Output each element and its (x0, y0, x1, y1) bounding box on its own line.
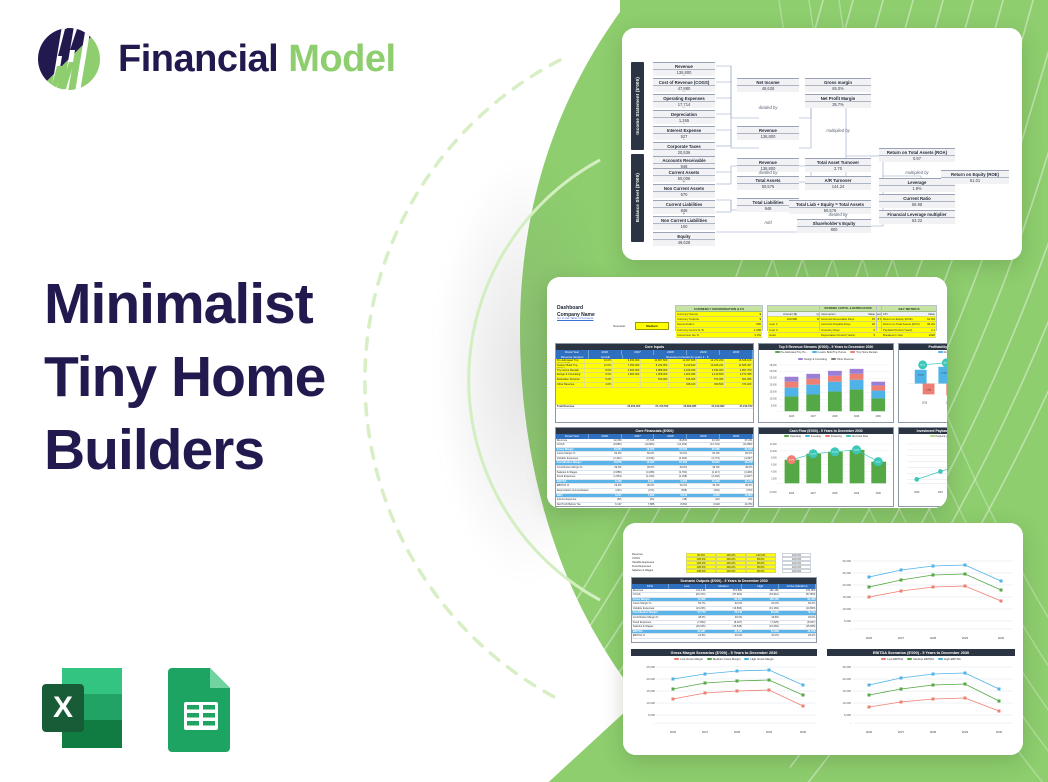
core-financials-rows: Revenue22,20027,41630,83334,31037,241COG… (556, 439, 753, 508)
svg-text:10,000: 10,000 (770, 451, 778, 453)
op-multiplied-by-1: multiplied by (805, 128, 871, 133)
svg-text:2029: 2029 (854, 492, 860, 495)
node-revenue-mid: Revenue136,800 (737, 126, 799, 140)
svg-text:5,000: 5,000 (771, 404, 778, 407)
svg-text:2028: 2028 (930, 636, 937, 640)
svg-text:2028: 2028 (832, 415, 838, 418)
poster-canvas: Financial Model Minimalist Tiny Home Bui… (0, 0, 1048, 782)
table-core-financials: Core Financials ($'000) Fiscal Year 2026… (555, 427, 754, 507)
node-total-assets: Total Assets50,576 (737, 176, 799, 190)
chart-cash-flow: Cash Flow ($'000) - 5 Years to December … (758, 427, 894, 507)
brand-word-model: Model (288, 38, 395, 80)
brand-word-financial: Financial (118, 38, 278, 80)
svg-text:2029: 2029 (962, 636, 969, 640)
profitability-plot: 29.0% 30.0% 30.0% 30.0% 29.0% 22,200 27,… (899, 354, 947, 413)
node-equity: Equity49,628 (653, 232, 715, 246)
table-scenario-outputs: Scenario Outputs ($'000) - 5 Years to De… (631, 577, 817, 643)
dupont-diagram: Income Statement ($'000) Balance Sheet (… (631, 60, 1014, 244)
node-roe: Return on Equity (ROE)61.01 (941, 170, 1009, 184)
svg-text:15,000: 15,000 (842, 595, 851, 599)
node-gross-margin: Gross margin65.0% (805, 78, 871, 92)
svg-text:2030: 2030 (876, 415, 882, 418)
svg-text:2026: 2026 (922, 401, 928, 404)
panel-key-metrics: KEY METRICS KPIValue Return on Equity (R… (881, 305, 937, 331)
svg-text:12,000: 12,000 (770, 444, 778, 446)
chart-investment-payback: Investment Payback Chart ($'000) - 5 Yea… (898, 427, 947, 507)
cash-flow-plot: 12,00010,0008,000 6,0004,0002,000 -(5,00… (759, 438, 893, 499)
svg-text:2,000: 2,000 (771, 478, 777, 480)
chart-revenue-streams: Top 5 Revenue Streams ($'000) - 5 Years … (758, 343, 894, 423)
svg-text:2029: 2029 (854, 415, 860, 418)
svg-text:5,000: 5,000 (648, 713, 655, 717)
screenshot-card-dashboard[interactable]: Dashboard Company Name Go to the Table o… (547, 277, 947, 508)
svg-text:2027: 2027 (702, 730, 709, 734)
svg-text:-: - (850, 627, 851, 631)
svg-text:20,000: 20,000 (842, 583, 851, 587)
brand-logo[interactable]: Financial Model (36, 26, 396, 92)
svg-text:4,000: 4,000 (771, 471, 777, 473)
scenario-body: Revenue80.0%100.0%120.0%100.0% COGS105.0… (631, 553, 1015, 743)
svg-text:5,000: 5,000 (844, 713, 851, 717)
legend-revenue-streams: Pre-fabricated Tiny Ho... Custom Build T… (759, 350, 893, 361)
table-row: Salaries & Wages105.0%100.0%95.0%100.0% (631, 569, 811, 573)
svg-text:35,000: 35,000 (770, 364, 778, 367)
svg-text:25,000: 25,000 (842, 665, 851, 669)
svg-text:2029: 2029 (962, 730, 969, 734)
svg-text:2030: 2030 (998, 636, 1005, 640)
svg-text:2026: 2026 (670, 730, 677, 734)
op-divided-by-1: divided by (737, 105, 799, 110)
svg-text:15,000: 15,000 (842, 689, 851, 693)
svg-text:2029: 2029 (766, 730, 773, 734)
node-net-income: Net Income48,628 (737, 78, 799, 92)
svg-text:25,000: 25,000 (770, 377, 778, 380)
format-badges: X (36, 662, 244, 754)
page-title: Minimalist Tiny Home Builders (44, 268, 444, 487)
node-corporate-taxes: Corporate Taxes20,536 (653, 142, 715, 156)
svg-text:X: X (53, 691, 73, 724)
svg-text:11,252: 11,252 (832, 452, 838, 454)
headline-line-2: Tiny Home (44, 341, 444, 414)
svg-text:2027: 2027 (898, 730, 905, 734)
svg-text:2026: 2026 (866, 730, 873, 734)
svg-text:30,000: 30,000 (770, 370, 778, 373)
svg-text:2026: 2026 (866, 636, 873, 640)
node-non-current-assets: Non Current Assets570 (653, 184, 715, 198)
dupont-sheet: Income Statement ($'000) Balance Sheet (… (622, 28, 1022, 260)
microsoft-excel-icon[interactable]: X (36, 662, 128, 754)
scenario-outputs-rows: Revenue121,136151,800182,160151,800COGS(… (632, 589, 816, 640)
svg-text:2028: 2028 (832, 492, 838, 495)
svg-text:2026: 2026 (914, 491, 920, 494)
svg-text:-: - (850, 721, 851, 725)
svg-text:2027: 2027 (938, 491, 944, 494)
left-content: Financial Model Minimalist Tiny Home Bui… (0, 0, 470, 782)
ebitda-plot: 25,000 20,000 15,000 10,000 5,000 - (827, 661, 1015, 737)
svg-text:(5,000): (5,000) (770, 492, 777, 494)
svg-text:15,000: 15,000 (770, 391, 778, 394)
svg-text:-: - (654, 721, 655, 725)
chart-gross-margin-scenarios: Gross Margin Scenarios ($'000) - 5 Years… (631, 649, 817, 741)
panel-wc-rows: Accounts Receivable Days15 Accounts Paya… (820, 317, 876, 338)
op-divided-by-2: divided by (737, 170, 799, 175)
headline-line-1: Minimalist (44, 268, 444, 341)
financial-model-logo-icon (36, 26, 102, 92)
svg-text:20,000: 20,000 (646, 677, 655, 681)
svg-text:30.0%: 30.0% (944, 363, 948, 365)
node-net-profit-margin: Net Profit Margin35.7% (805, 94, 871, 108)
node-total-asset-turnover: Total Asset Turnover2.70 (805, 158, 871, 172)
svg-text:30,000: 30,000 (842, 559, 851, 563)
svg-text:2027: 2027 (946, 401, 947, 404)
chart-profitability: Profitability ($'000) - 5 Years to Decem… (898, 343, 947, 423)
svg-text:20,000: 20,000 (842, 677, 851, 681)
svg-text:5,000: 5,000 (844, 619, 851, 623)
google-sheets-icon[interactable] (152, 662, 244, 754)
svg-text:25,000: 25,000 (646, 665, 655, 669)
scenario-sheet: Revenue80.0%100.0%120.0%100.0% COGS105.0… (623, 523, 1023, 755)
svg-text:2028: 2028 (930, 730, 937, 734)
svg-text:29.0%: 29.0% (920, 365, 926, 367)
svg-text:2030: 2030 (996, 730, 1003, 734)
node-current-ratio: Current Ratio58.98 (879, 194, 955, 208)
chart-ebitda-scenarios: EBITDA Scenarios ($'000) - 5 Years to De… (827, 649, 1015, 741)
svg-text:10,000: 10,000 (842, 607, 851, 611)
op-divided-by-3: divided by (805, 212, 871, 217)
svg-text:8,000: 8,000 (771, 458, 777, 460)
rail-balance-sheet: Balance Sheet ($'000) (631, 154, 644, 242)
svg-text:27,416: 27,416 (941, 373, 947, 375)
gross-margin-plot: 25,000 20,000 15,000 10,000 5,000 - (631, 661, 817, 737)
table-row: Net Profit Before Tax6,1377,8888,8949,91… (556, 503, 753, 507)
table-row: EBITDA %24.5%29.0%30.0%29.0% (632, 634, 816, 639)
svg-text:6,000: 6,000 (771, 465, 777, 467)
panel-working-capital: WORKING CAPITAL & DEPRECIATION Assumptio… (819, 305, 877, 331)
svg-text:2026: 2026 (789, 492, 795, 495)
screenshot-card-dupont[interactable]: Income Statement ($'000) Balance Sheet (… (622, 28, 1022, 260)
svg-text:-: - (776, 483, 777, 485)
brand-wordmark: Financial Model (118, 38, 396, 81)
svg-text:15,000: 15,000 (646, 689, 655, 693)
node-non-current-liabilities: Non Current Liabilities100 (653, 216, 715, 230)
svg-text:10,000: 10,000 (646, 701, 655, 705)
panel-km-rows: Return on Equity (ROE)61.0% Return on To… (882, 317, 936, 338)
table-core-inputs: Core Inputs Fiscal Year 2026 2027 2028 2… (555, 343, 754, 423)
payback-plot: 72,00070,00060,000 50,00040,00030,000 20… (899, 438, 947, 499)
svg-text:8,522: 8,522 (876, 461, 881, 463)
svg-text:10,719: 10,719 (810, 454, 816, 456)
node-ar-turnover: A/R Turnover144.24 (805, 176, 871, 190)
svg-text:11,500: 11,500 (854, 450, 861, 452)
core-inputs-total-row: Total Revenue 22,200,000 27,415,500 30,8… (556, 405, 753, 410)
node-roa: Return on Total Assets (ROA)0.97 (879, 148, 955, 162)
svg-text:2028: 2028 (734, 730, 741, 734)
chart-scenario-top: 30,000 25,000 20,000 15,000 10,000 5,000… (827, 553, 1015, 645)
headline-line-3: Builders (44, 414, 444, 487)
svg-text:2027: 2027 (811, 415, 817, 418)
svg-text:2027: 2027 (811, 492, 817, 495)
svg-text:2030: 2030 (876, 492, 882, 495)
svg-text:25,000: 25,000 (842, 571, 851, 575)
svg-text:10,000: 10,000 (842, 701, 851, 705)
rail-income-statement: Income Statement ($'000) (631, 62, 644, 150)
svg-text:2026: 2026 (789, 415, 795, 418)
svg-text:2030: 2030 (800, 730, 807, 734)
node-shareholders-equity: Shareholder's Equity800 (797, 219, 871, 233)
svg-text:22,200: 22,200 (918, 375, 925, 377)
scenario-top-plot: 30,000 25,000 20,000 15,000 10,000 5,000… (827, 553, 1015, 645)
revenue-streams-plot: -5,00010,000 15,00020,00025,000 30,00035… (759, 361, 893, 420)
table-scenario-assumptions: Revenue80.0%100.0%120.0%100.0% COGS105.0… (631, 553, 811, 573)
svg-text:2027: 2027 (898, 636, 905, 640)
screenshot-card-scenarios[interactable]: Revenue80.0%100.0%120.0%100.0% COGS105.0… (623, 523, 1023, 755)
dashboard-sheet: Dashboard Company Name Go to the Table o… (547, 277, 947, 508)
node-financial-leverage-multiplier: Financial Leverage multiplier63.22 (879, 210, 955, 224)
svg-text:10,000: 10,000 (770, 397, 778, 400)
svg-text:20,000: 20,000 (770, 384, 778, 387)
op-add: Add (737, 220, 799, 225)
svg-text:-: - (776, 410, 777, 413)
